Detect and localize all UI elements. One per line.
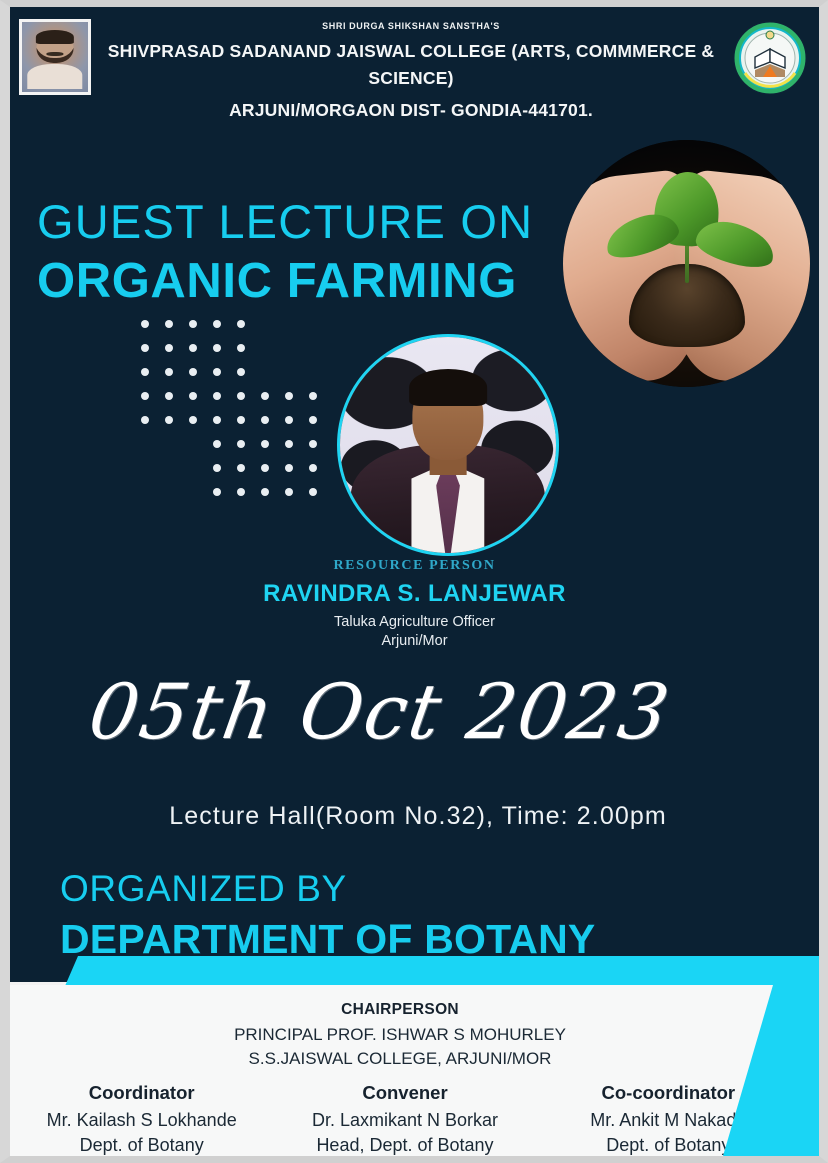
decorative-dot (309, 392, 317, 400)
decorative-dot (309, 440, 317, 448)
decorative-dot (237, 440, 245, 448)
decorative-dot (309, 416, 317, 424)
decorative-dot (213, 320, 221, 328)
event-venue-time: Lecture Hall(Room No.32), Time: 2.00pm (10, 802, 826, 831)
founder-portrait-image (22, 22, 88, 92)
resource-person-label: RESOURCE PERSON (10, 558, 819, 574)
decorative-dot (261, 416, 269, 424)
resource-person-block: RESOURCE PERSON RAVINDRA S. LANJEWAR Tal… (10, 558, 819, 649)
decorative-dot (165, 392, 173, 400)
decorative-dot-grid (141, 320, 321, 495)
decorative-dot (165, 416, 173, 424)
decorative-dot (141, 320, 149, 328)
decorative-dot (189, 320, 197, 328)
decorative-dot (165, 320, 173, 328)
college-name: SHIVPRASAD SADANAND JAISWAL COLLEGE (ART… (106, 38, 716, 92)
college-address: ARJUNI/MORGAON DIST- GONDIA-441701. (106, 97, 716, 124)
resource-person-place: Arjuni/Mor (10, 633, 819, 649)
decorative-dot (189, 416, 197, 424)
organizing-people-row: CoordinatorMr. Kailash S LokhandeDept. o… (10, 1082, 800, 1156)
decorative-dot (213, 344, 221, 352)
decorative-dot (261, 464, 269, 472)
college-emblem-icon (733, 21, 807, 95)
decorative-dot (237, 416, 245, 424)
poster-header: SHRI DURGA SHIKSHAN SANSTHA'S SHIVPRASAD… (10, 7, 819, 110)
person-department: Head, Dept. of Botany (273, 1135, 536, 1156)
decorative-dot (141, 392, 149, 400)
person-role: Coordinator (10, 1082, 273, 1104)
title-line-1: GUEST LECTURE ON (37, 197, 577, 248)
emblem-svg (733, 21, 807, 95)
decorative-dot (213, 440, 221, 448)
speaker-hair-shape (409, 369, 487, 406)
chairperson-college: S.S.JAISWAL COLLEGE, ARJUNI/MOR (10, 1049, 790, 1069)
decorative-dot (237, 392, 245, 400)
person-name: Mr. Kailash S Lokhande (10, 1110, 273, 1131)
decorative-dot (213, 464, 221, 472)
organized-by-label: ORGANIZED BY (60, 869, 595, 910)
decorative-dot (261, 440, 269, 448)
decorative-dot (309, 488, 317, 496)
portrait-hair-shape (36, 30, 74, 44)
organizing-person: CoordinatorMr. Kailash S LokhandeDept. o… (10, 1082, 273, 1156)
resource-person-role: Taluka Agriculture Officer (10, 614, 819, 630)
event-date: 05th Oct 2023 (3, 667, 757, 756)
decorative-dot (285, 392, 293, 400)
decorative-dot (261, 392, 269, 400)
chairperson-name: PRINCIPAL PROF. ISHWAR S MOHURLEY (10, 1025, 790, 1045)
decorative-dot (213, 488, 221, 496)
decorative-dot (189, 344, 197, 352)
decorative-dot (285, 416, 293, 424)
speaker-portrait-photo (337, 334, 559, 556)
founder-portrait-photo (19, 19, 91, 95)
decorative-dot (285, 488, 293, 496)
decorative-dot (141, 368, 149, 376)
decorative-dot (213, 416, 221, 424)
person-name: Dr. Laxmikant N Borkar (273, 1110, 536, 1131)
decorative-dot (189, 392, 197, 400)
decorative-dot (237, 320, 245, 328)
person-role: Convener (273, 1082, 536, 1104)
organizing-department: DEPARTMENT OF BOTANY (60, 916, 595, 963)
chairperson-label: CHAIRPERSON (10, 1001, 790, 1019)
decorative-dot (237, 464, 245, 472)
poster-dark-panel: SHRI DURGA SHIKSHAN SANSTHA'S SHIVPRASAD… (10, 7, 819, 982)
poster-footer: CHAIRPERSON PRINCIPAL PROF. ISHWAR S MOH… (10, 985, 819, 1156)
decorative-dot (189, 368, 197, 376)
poster-root: SHRI DURGA SHIKSHAN SANSTHA'S SHIVPRASAD… (0, 0, 828, 1163)
decorative-dot (285, 464, 293, 472)
decorative-dot (141, 416, 149, 424)
person-department: Dept. of Botany (10, 1135, 273, 1156)
decorative-dot (213, 368, 221, 376)
poster-title: GUEST LECTURE ON ORGANIC FARMING (37, 197, 577, 309)
title-line-2: ORGANIC FARMING (37, 254, 577, 309)
resource-person-name: RAVINDRA S. LANJEWAR (10, 580, 819, 608)
sanstha-label: SHRI DURGA SHIKSHAN SANSTHA'S (106, 21, 716, 31)
decorative-dot (309, 464, 317, 472)
decorative-dot (285, 440, 293, 448)
decorative-dot (213, 392, 221, 400)
organizing-person: ConvenerDr. Laxmikant N BorkarHead, Dept… (273, 1082, 536, 1156)
decorative-dot (237, 344, 245, 352)
decorative-dot (237, 368, 245, 376)
portrait-moustache-shape (46, 52, 63, 56)
footer-content: CHAIRPERSON PRINCIPAL PROF. ISHWAR S MOH… (10, 985, 790, 1156)
organized-by-block: ORGANIZED BY DEPARTMENT OF BOTANY (60, 869, 595, 963)
header-text-block: SHRI DURGA SHIKSHAN SANSTHA'S SHIVPRASAD… (106, 21, 716, 124)
decorative-dot (165, 368, 173, 376)
decorative-dot (237, 488, 245, 496)
decorative-dot (141, 344, 149, 352)
hands-seedling-photo (563, 140, 810, 387)
decorative-dot (165, 344, 173, 352)
decorative-dot (261, 488, 269, 496)
